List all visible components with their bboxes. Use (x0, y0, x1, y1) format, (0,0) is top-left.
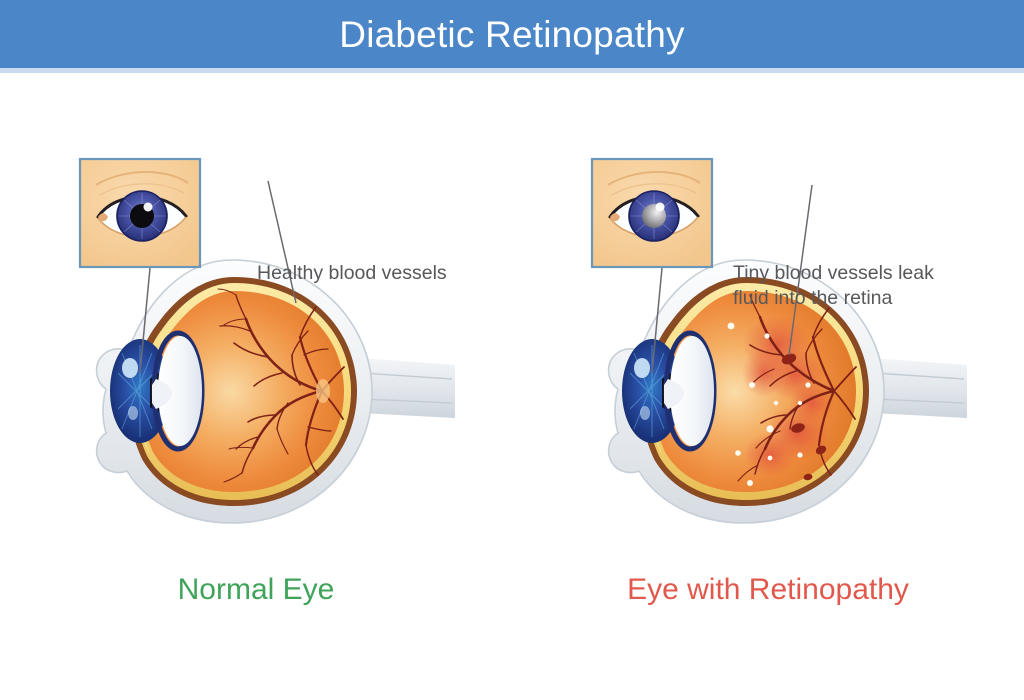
optic-nerve (360, 358, 455, 418)
caption-retinopathy-eye: Eye with Retinopathy (512, 573, 1024, 607)
callout-healthy-vessels: Healthy blood vessels (257, 261, 447, 286)
optic-nerve (872, 358, 967, 418)
caption-normal-eye: Normal Eye (0, 573, 512, 607)
page-title: Diabetic Retinopathy (339, 16, 684, 53)
figure-stage: Healthy blood vessels Normal Eye (0, 73, 1024, 700)
title-banner: Diabetic Retinopathy (0, 0, 1024, 68)
panel-normal-eye: Healthy blood vessels Normal Eye (0, 73, 512, 700)
callout-leaking-vessels: Tiny blood vessels leak fluid into the r… (733, 261, 934, 311)
front-view-eye-inset (80, 159, 200, 267)
front-view-eye-inset (592, 159, 712, 267)
panel-retinopathy-eye: Tiny blood vessels leak fluid into the r… (512, 73, 1024, 700)
optic-disc (316, 379, 330, 403)
